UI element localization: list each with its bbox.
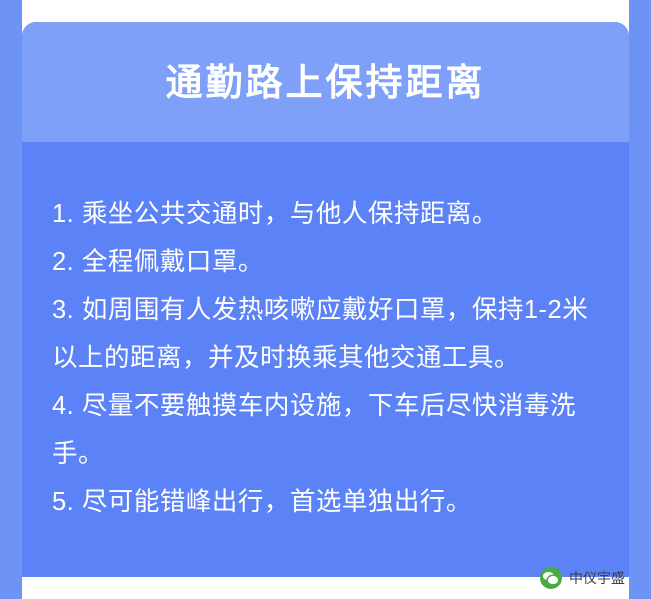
list-item: 2. 全程佩戴口罩。 [52, 238, 599, 286]
title-band: 通勤路上保持距离 [22, 22, 629, 142]
info-card: 通勤路上保持距离 1. 乘坐公共交通时，与他人保持距离。 2. 全程佩戴口罩。 … [22, 22, 629, 577]
right-edge-band [629, 0, 651, 599]
left-edge-band [0, 0, 22, 599]
footer-attribution: 中仪宇盛 [540, 567, 625, 589]
page-title: 通勤路上保持距离 [166, 64, 486, 101]
tips-list: 1. 乘坐公共交通时，与他人保持距离。 2. 全程佩戴口罩。 3. 如周围有人发… [22, 142, 629, 577]
list-item: 3. 如周围有人发热咳嗽应戴好口罩，保持1-2米以上的距离，并及时换乘其他交通工… [52, 286, 599, 382]
wechat-icon [540, 567, 562, 589]
poster-page: 通勤路上保持距离 1. 乘坐公共交通时，与他人保持距离。 2. 全程佩戴口罩。 … [0, 0, 651, 599]
list-item: 5. 尽可能错峰出行，首选单独出行。 [52, 478, 599, 526]
list-item: 4. 尽量不要触摸车内设施，下车后尽快消毒洗手。 [52, 382, 599, 478]
account-name: 中仪宇盛 [569, 568, 625, 588]
list-item: 1. 乘坐公共交通时，与他人保持距离。 [52, 190, 599, 238]
